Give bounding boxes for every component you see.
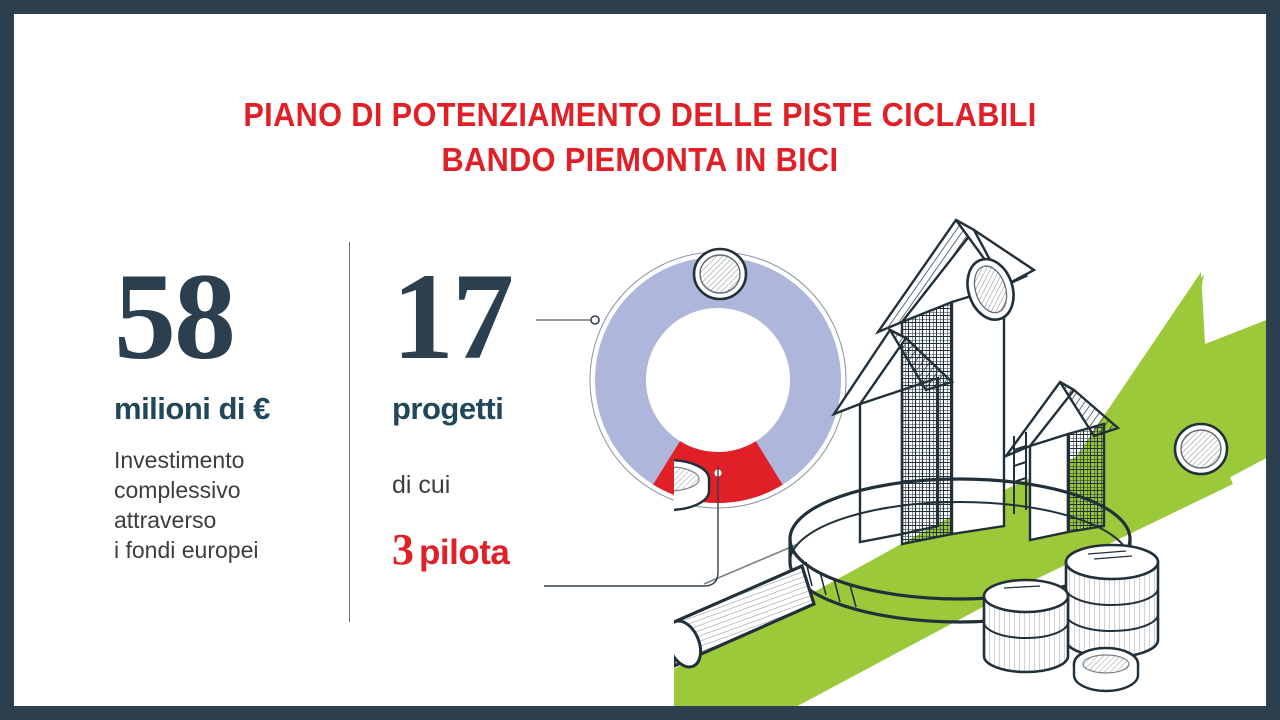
stat-projects: 17 progetti di cui 3pilota [392,262,572,572]
description-line: complessivo [114,475,344,505]
stat-pilot-word: pilota [419,533,509,572]
coin [674,460,709,510]
coin [1175,424,1227,474]
growth-illustration-svg [674,214,1266,706]
slide-frame: PIANO DI POTENZIAMENTO DELLE PISTE CICLA… [0,0,1280,720]
coin [694,249,746,299]
description-line: Investimento [114,445,344,475]
slide-canvas: PIANO DI POTENZIAMENTO DELLE PISTE CICLA… [14,14,1266,706]
stat-investment-unit: milioni di € [114,390,344,428]
stat-pilot-projects: 3pilota [392,528,572,572]
stat-investment-number: 58 [114,262,344,372]
column-divider [349,242,350,622]
title-line-1: PIANO DI POTENZIAMENTO DELLE PISTE CICLA… [58,92,1222,137]
stat-investment: 58 milioni di € Investimento complessivo… [114,262,344,565]
stat-projects-number: 17 [392,262,572,372]
stat-projects-of-which-label: di cui [392,470,572,500]
growth-illustration [674,214,1266,706]
description-line: attraverso [114,505,344,535]
page-title: PIANO DI POTENZIAMENTO DELLE PISTE CICLA… [14,92,1266,182]
description-line: i fondi europei [114,535,344,565]
coin [1074,648,1138,691]
coin-stack-short [984,580,1068,672]
coin-stack-tall [1066,545,1158,657]
stat-investment-description: Investimento complessivo attraverso i fo… [114,445,344,565]
stat-projects-unit: progetti [392,390,572,428]
stat-pilot-number: 3 [392,525,414,574]
title-line-2: BANDO PIEMONTA IN BICI [58,137,1222,182]
